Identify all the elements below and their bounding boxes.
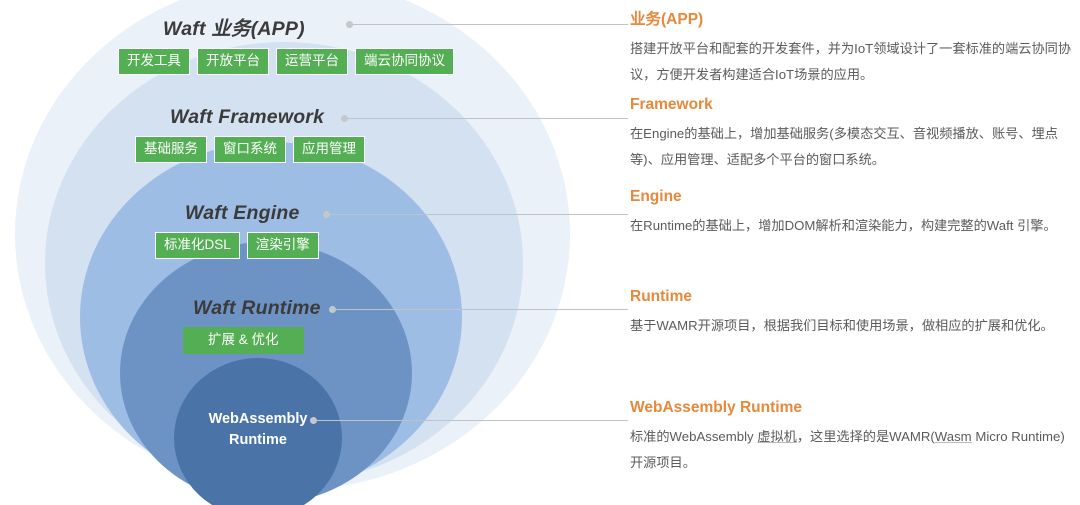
- tag-standard-dsl[interactable]: 标准化DSL: [155, 232, 240, 259]
- description-runtime-body: 基于WAMR开源项目，根据我们目标和使用场景，做相应的扩展和优化。: [630, 313, 1076, 339]
- tag-window-system[interactable]: 窗口系统: [214, 136, 286, 163]
- layer-webassembly-title: WebAssembly Runtime: [174, 409, 342, 451]
- description-runtime: Runtime 基于WAMR开源项目，根据我们目标和使用场景，做相应的扩展和优化…: [630, 288, 1076, 339]
- description-engine: Engine 在Runtime的基础上，增加DOM解析和渲染能力，构建完整的Wa…: [630, 188, 1076, 239]
- layer-app-title: Waft 业务(APP): [163, 12, 305, 41]
- description-framework-heading: Framework: [630, 96, 1076, 114]
- description-engine-body: 在Runtime的基础上，增加DOM解析和渲染能力，构建完整的Waft 引擎。: [630, 213, 1076, 239]
- tag-basic-services[interactable]: 基础服务: [135, 136, 207, 163]
- description-webassembly-text-2: ，这里选择的是WAMR(: [797, 429, 935, 444]
- description-app-heading: 业务(APP): [630, 7, 1076, 29]
- description-app-body: 搭建开放平台和配套的开发套件，并为IoT领域设计了一套标准的端云协同协议，方便开…: [630, 36, 1076, 87]
- tag-app-management[interactable]: 应用管理: [293, 136, 365, 163]
- layer-app: Waft 业务(APP) 开发工具 开放平台 运营平台 端云协同协议: [0, 12, 738, 75]
- connector-line-webassembly: [316, 420, 628, 421]
- tag-open-platform[interactable]: 开放平台: [197, 48, 269, 75]
- description-webassembly-text-1: 标准的WebAssembly: [630, 429, 757, 444]
- architecture-diagram: Waft 业务(APP) 开发工具 开放平台 运营平台 端云协同协议 Waft …: [0, 0, 1080, 505]
- layer-framework-title: Waft Framework: [170, 106, 324, 129]
- tag-extend-and-optimize[interactable]: 扩展 & 优化: [183, 327, 304, 354]
- description-engine-heading: Engine: [630, 188, 1076, 206]
- description-webassembly-underline-1: 虚拟机: [757, 429, 797, 444]
- description-framework: Framework 在Engine的基础上，增加基础服务(多模态交互、音视频播放…: [630, 96, 1076, 172]
- tag-dev-tools[interactable]: 开发工具: [118, 48, 190, 75]
- description-runtime-heading: Runtime: [630, 288, 1076, 306]
- description-webassembly-body: 标准的WebAssembly 虚拟机，这里选择的是WAMR(Wasm Micro…: [630, 424, 1076, 475]
- connector-line-app: [352, 24, 628, 25]
- description-panel: 业务(APP) 搭建开放平台和配套的开发套件，并为IoT领域设计了一套标准的端云…: [630, 0, 1080, 505]
- tag-operations-platform[interactable]: 运营平台: [276, 48, 348, 75]
- description-webassembly: WebAssembly Runtime 标准的WebAssembly 虚拟机，这…: [630, 399, 1076, 475]
- connector-line-runtime: [335, 309, 628, 310]
- description-webassembly-heading: WebAssembly Runtime: [630, 399, 1076, 417]
- layer-engine-title: Waft Engine: [185, 202, 300, 225]
- tag-device-cloud-protocol[interactable]: 端云协同协议: [355, 48, 454, 75]
- connector-line-engine: [329, 214, 628, 215]
- description-app: 业务(APP) 搭建开放平台和配套的开发套件，并为IoT领域设计了一套标准的端云…: [630, 7, 1076, 87]
- connector-line-framework: [347, 118, 628, 119]
- tag-render-engine[interactable]: 渲染引擎: [247, 232, 319, 259]
- description-framework-body: 在Engine的基础上，增加基础服务(多模态交互、音视频播放、账号、埋点等)、应…: [630, 121, 1076, 172]
- layer-runtime-title: Waft Runtime: [193, 297, 321, 320]
- description-webassembly-underline-2: Wasm: [935, 429, 972, 444]
- layer-webassembly-title-line2: Runtime: [174, 430, 342, 451]
